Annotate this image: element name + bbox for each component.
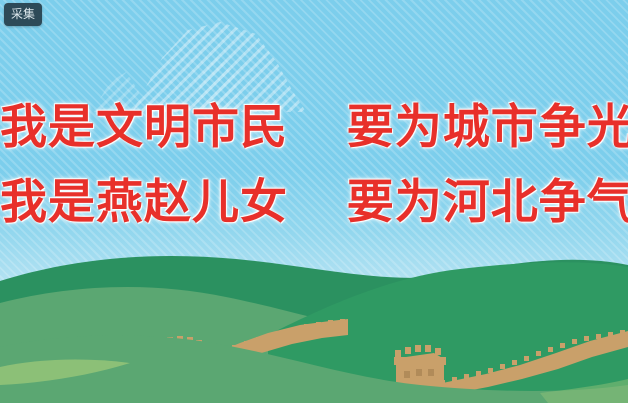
headline-line1-right: 要为城市争光 [347, 100, 628, 155]
sky-watermark-graphic [92, 12, 342, 112]
headline-line-1: 我是文明市民 要为城市争光 [0, 104, 628, 151]
hills-and-great-wall-illustration [0, 243, 628, 403]
headline-line2-left: 我是燕赵儿女 [0, 175, 288, 230]
poster-screenshot: 我是文明市民 要为城市争光 我是燕赵儿女 要为河北争气 采集 [0, 0, 628, 403]
headline-line-2: 我是燕赵儿女 要为河北争气 [0, 179, 628, 226]
headline-line1-left: 我是文明市民 [0, 100, 288, 155]
headline-line2-right: 要为河北争气 [347, 175, 628, 230]
capture-button[interactable]: 采集 [4, 3, 42, 26]
